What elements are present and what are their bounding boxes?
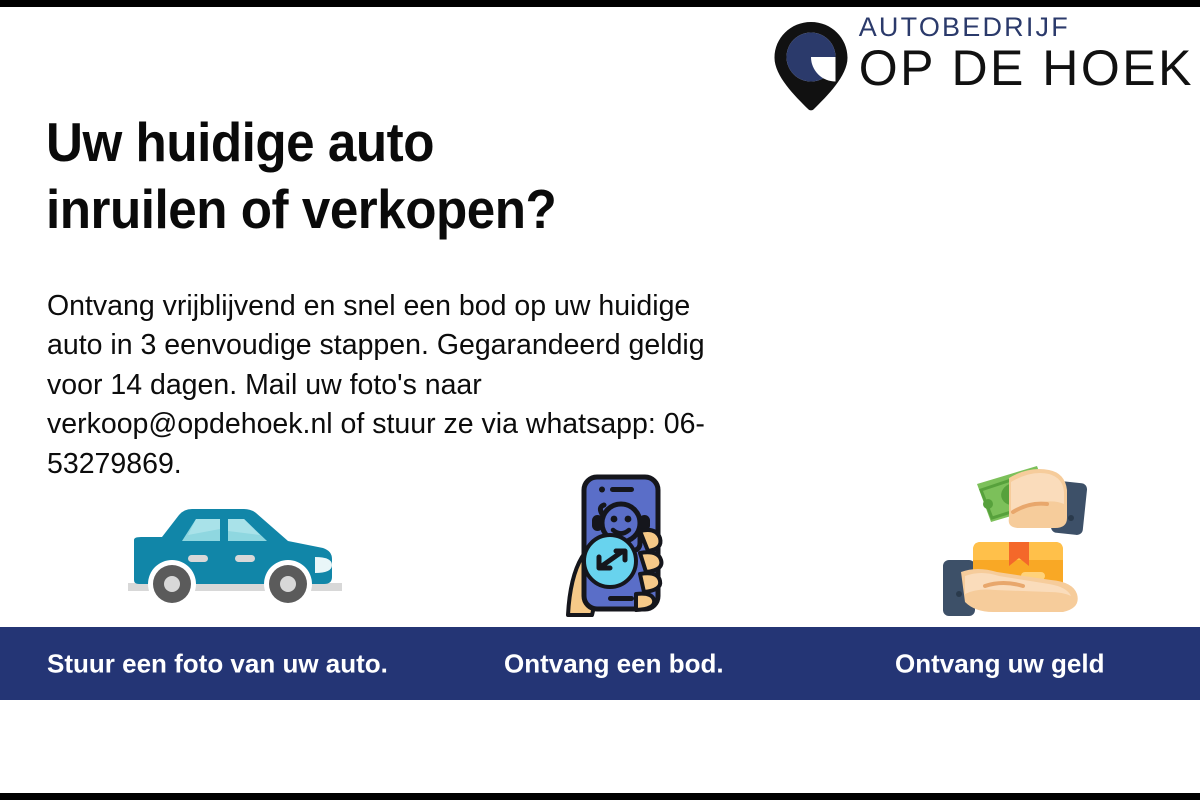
brand-wordmark: AUTOBEDRIJF OP DE HOEK — [859, 14, 1194, 93]
smartphone-support-call-icon — [548, 465, 698, 620]
brand-line-op-de-hoek: OP DE HOEK — [859, 43, 1194, 93]
map-pin-icon — [769, 20, 853, 112]
step-2-illustration — [548, 465, 698, 625]
steps-bar: Stuur een foto van uw auto. Ontvang een … — [0, 627, 1200, 700]
top-border — [0, 0, 1200, 7]
brand-logo[interactable]: AUTOBEDRIJF OP DE HOEK — [769, 14, 1194, 112]
step-1-illustration — [110, 485, 360, 625]
step-label-1: Stuur een foto van uw auto. — [47, 648, 388, 679]
hands-cash-package-icon — [925, 460, 1105, 620]
car-icon — [110, 485, 360, 620]
step-label-3: Ontvang uw geld — [895, 648, 1104, 679]
brand-line-autobedrijf: AUTOBEDRIJF — [859, 14, 1070, 41]
body-copy: Ontvang vrijblijvend en snel een bod op … — [47, 287, 747, 485]
promo-banner: AUTOBEDRIJF OP DE HOEK Uw huidige auto i… — [0, 0, 1200, 800]
bottom-border — [0, 793, 1200, 800]
step-3-illustration — [925, 460, 1105, 625]
step-label-2: Ontvang een bod. — [504, 648, 724, 679]
page-title: Uw huidige auto inruilen of verkopen? — [46, 109, 556, 243]
